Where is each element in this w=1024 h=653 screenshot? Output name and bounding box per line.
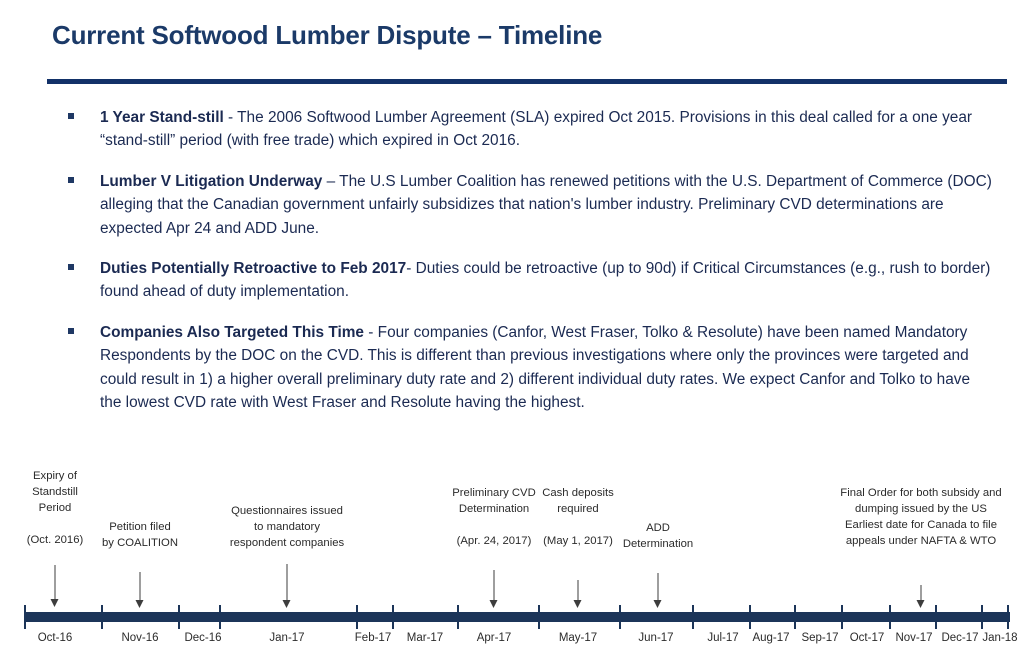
month-label: Dec-17 bbox=[941, 632, 978, 644]
label-line: Determination bbox=[623, 536, 693, 552]
axis-tick bbox=[981, 605, 983, 629]
axis-tick bbox=[178, 605, 180, 629]
axis-tick bbox=[794, 605, 796, 629]
timeline-arrow-add-determination bbox=[653, 573, 664, 608]
month-label: May-17 bbox=[559, 632, 597, 644]
arrow-shaft bbox=[658, 573, 659, 601]
square-bullet-icon bbox=[68, 177, 74, 183]
axis-tick bbox=[457, 605, 459, 629]
axis-tick bbox=[841, 605, 843, 629]
arrow-shaft bbox=[494, 570, 495, 601]
square-bullet-icon bbox=[68, 264, 74, 270]
timeline-event-label-questionnaires-issued: Questionnaires issuedto mandatoryrespond… bbox=[230, 503, 344, 551]
label-line-spacer bbox=[542, 517, 614, 533]
label-line: dumping issued by the US bbox=[840, 501, 1001, 517]
month-label: Jun-17 bbox=[638, 632, 673, 644]
label-line: by COALITION bbox=[102, 535, 178, 551]
timeline-arrow-petition-filed-by-coalition bbox=[135, 572, 146, 608]
arrow-shaft bbox=[287, 564, 288, 601]
label-line: Standstill bbox=[27, 484, 84, 500]
label-line: Questionnaires issued bbox=[230, 503, 344, 519]
bullet-list: 1 Year Stand-still - The 2006 Softwood L… bbox=[64, 106, 994, 431]
arrow-head-icon bbox=[51, 599, 59, 607]
bullet-lead-text: Duties Potentially Retroactive to Feb 20… bbox=[100, 260, 406, 277]
label-line: Expiry of bbox=[27, 468, 84, 484]
month-label: Sep-17 bbox=[801, 632, 838, 644]
timeline-axis-bar bbox=[24, 612, 1010, 622]
arrow-head-icon bbox=[490, 600, 498, 608]
arrow-shaft bbox=[578, 580, 579, 601]
label-line: Determination bbox=[452, 501, 536, 517]
axis-tick bbox=[619, 605, 621, 629]
label-line: respondent companies bbox=[230, 535, 344, 551]
arrow-head-icon bbox=[654, 600, 662, 608]
month-label: Oct-17 bbox=[850, 632, 885, 644]
arrow-shaft bbox=[55, 565, 56, 600]
label-line: Petition filed bbox=[102, 519, 178, 535]
axis-tick bbox=[24, 605, 26, 629]
bullet-item: Duties Potentially Retroactive to Feb 20… bbox=[64, 257, 994, 304]
bullet-lead-text: Companies Also Targeted This Time bbox=[100, 324, 364, 341]
title-divider bbox=[47, 79, 1007, 84]
month-label: Dec-16 bbox=[184, 632, 221, 644]
month-label: Oct-16 bbox=[38, 632, 73, 644]
label-line-spacer bbox=[452, 517, 536, 533]
axis-tick bbox=[692, 605, 694, 629]
axis-tick bbox=[889, 605, 891, 629]
axis-tick bbox=[356, 605, 358, 629]
axis-tick bbox=[101, 605, 103, 629]
timeline-arrow-questionnaires-issued bbox=[282, 564, 293, 608]
bullet-lead-text: Lumber V Litigation Underway bbox=[100, 173, 322, 190]
label-line: Final Order for both subsidy and bbox=[840, 485, 1001, 501]
timeline-event-label-add-determination: ADDDetermination bbox=[623, 520, 693, 552]
month-label: Aug-17 bbox=[752, 632, 789, 644]
timeline-event-label-expiry-standstill-period: Expiry ofStandstillPeriod(Oct. 2016) bbox=[27, 468, 84, 548]
month-label: Jan-17 bbox=[269, 632, 304, 644]
axis-tick bbox=[935, 605, 937, 629]
label-line: ADD bbox=[623, 520, 693, 536]
arrow-shaft bbox=[140, 572, 141, 601]
month-label: Mar-17 bbox=[407, 632, 443, 644]
label-line: to mandatory bbox=[230, 519, 344, 535]
arrow-head-icon bbox=[283, 600, 291, 608]
timeline-event-label-final-order-and-appeals: Final Order for both subsidy anddumping … bbox=[840, 485, 1001, 549]
label-line: Period bbox=[27, 500, 84, 516]
month-label: Feb-17 bbox=[355, 632, 391, 644]
label-line-spacer bbox=[27, 516, 84, 532]
timeline-arrow-expiry-standstill-period bbox=[50, 565, 61, 607]
label-line: required bbox=[542, 501, 614, 517]
arrow-head-icon bbox=[574, 600, 582, 608]
axis-tick bbox=[219, 605, 221, 629]
timeline-arrow-cash-deposits-required bbox=[573, 580, 584, 608]
timeline-event-label-petition-filed-by-coalition: Petition filedby COALITION bbox=[102, 519, 178, 551]
month-label: Nov-17 bbox=[895, 632, 932, 644]
month-label: Jul-17 bbox=[707, 632, 738, 644]
bullet-item: Companies Also Targeted This Time - Four… bbox=[64, 321, 994, 415]
label-line: appeals under NAFTA & WTO bbox=[840, 533, 1001, 549]
axis-tick bbox=[538, 605, 540, 629]
bullet-item: Lumber V Litigation Underway – The U.S L… bbox=[64, 170, 994, 240]
arrow-head-icon bbox=[136, 600, 144, 608]
timeline-arrow-preliminary-cvd-determination bbox=[489, 570, 500, 608]
bullet-item: 1 Year Stand-still - The 2006 Softwood L… bbox=[64, 106, 994, 153]
bullet-lead-text: 1 Year Stand-still bbox=[100, 109, 224, 126]
label-line: Earliest date for Canada to file bbox=[840, 517, 1001, 533]
page-title: Current Softwood Lumber Dispute – Timeli… bbox=[52, 20, 602, 51]
square-bullet-icon bbox=[68, 113, 74, 119]
timeline-arrow-final-order-and-appeals bbox=[916, 585, 927, 608]
axis-tick bbox=[749, 605, 751, 629]
timeline-event-label-cash-deposits-required: Cash depositsrequired(May 1, 2017) bbox=[542, 485, 614, 549]
month-label: Nov-16 bbox=[121, 632, 158, 644]
arrow-shaft bbox=[921, 585, 922, 601]
label-line: Cash deposits bbox=[542, 485, 614, 501]
month-label: Apr-17 bbox=[477, 632, 512, 644]
month-label: Jan-18 bbox=[982, 632, 1017, 644]
label-line: Preliminary CVD bbox=[452, 485, 536, 501]
timeline-event-label-preliminary-cvd-determination: Preliminary CVDDetermination(Apr. 24, 20… bbox=[452, 485, 536, 549]
label-line: (May 1, 2017) bbox=[542, 533, 614, 549]
label-line: (Apr. 24, 2017) bbox=[452, 533, 536, 549]
axis-tick bbox=[392, 605, 394, 629]
square-bullet-icon bbox=[68, 328, 74, 334]
arrow-head-icon bbox=[917, 600, 925, 608]
axis-tick bbox=[1007, 605, 1009, 629]
bullet-body-text: - The 2006 Softwood Lumber Agreement (SL… bbox=[100, 109, 972, 149]
timeline: Oct-16Nov-16Dec-16Jan-17Feb-17Mar-17Apr-… bbox=[0, 460, 1024, 653]
label-line: (Oct. 2016) bbox=[27, 532, 84, 548]
